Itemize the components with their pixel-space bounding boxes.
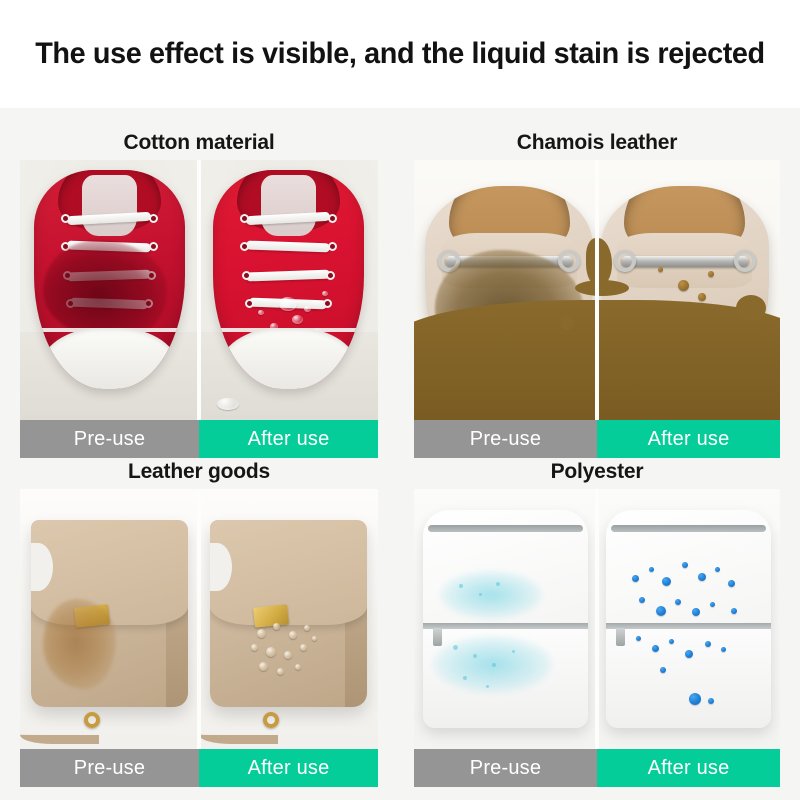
liquid-soak-stain (43, 240, 166, 340)
panel-cotton-material: Cotton material (20, 126, 378, 451)
horsebit-ring (734, 250, 756, 272)
liquid-stain (43, 599, 115, 689)
label-pre-use-cotton: Pre-use (20, 420, 199, 458)
panel-chamois-leather: Chamois leather (414, 126, 780, 451)
water-bead (300, 644, 307, 651)
page-title: The use effect is visible, and the liqui… (35, 37, 765, 71)
ink-bead (682, 562, 688, 568)
zipper-pull (616, 628, 625, 646)
shoe-eyelet (149, 242, 158, 251)
photo-divider (595, 160, 599, 420)
photo-leather-pre-use (20, 489, 199, 749)
mud-bead (698, 293, 706, 301)
ink-bead (698, 573, 706, 581)
label-pre-use-chamois: Pre-use (414, 420, 597, 458)
ink-bead (675, 599, 681, 605)
shoe-tongue (82, 175, 136, 236)
panel-heading-cotton-material: Cotton material (20, 126, 378, 160)
panel-heading-leather-goods: Leather goods (20, 455, 378, 489)
panel-polyester: Polyester (414, 455, 780, 780)
horsebit-hardware (621, 256, 749, 267)
ink-speck (492, 663, 496, 667)
label-bar-polyester: Pre-use After use (414, 749, 780, 787)
ink-speck (453, 645, 458, 650)
water-bead (257, 629, 266, 638)
label-pre-use-leather: Pre-use (20, 749, 199, 787)
leather-bag-stained (31, 520, 189, 707)
ink-bead (705, 641, 711, 647)
ink-bead (710, 602, 715, 607)
photo-cotton-material (20, 160, 378, 420)
rubber-toe-cap (40, 328, 178, 389)
photo-cotton-after-use (199, 160, 378, 420)
water-bead (217, 398, 239, 410)
water-bead (295, 664, 301, 670)
photo-polyester-pre-use (414, 489, 597, 749)
label-after-use-cotton: After use (199, 420, 378, 458)
ink-bead (689, 693, 701, 705)
ink-speck (496, 582, 500, 586)
photo-divider (197, 489, 201, 749)
shoe-lace (246, 269, 330, 281)
ink-speck (473, 654, 477, 658)
label-bar-chamois-leather: Pre-use After use (414, 420, 780, 458)
ink-bead (649, 567, 654, 572)
label-bar-cotton-material: Pre-use After use (20, 420, 378, 458)
panel-leather-goods: Leather goods (20, 455, 378, 780)
shoe-eyelet (240, 242, 249, 251)
backpack-front-pocket (606, 623, 771, 728)
water-bead (279, 297, 297, 311)
shoe-eyelet (326, 271, 335, 280)
label-pre-use-polyester: Pre-use (414, 749, 597, 787)
title-banner: The use effect is visible, and the liqui… (0, 0, 800, 108)
ink-speck (486, 685, 489, 688)
zipper-pull (433, 628, 442, 646)
ink-bead (639, 597, 645, 603)
water-bead (289, 631, 297, 639)
ink-bead (662, 577, 671, 586)
shoe-eyelet (323, 299, 332, 308)
rubber-toe-cap (219, 328, 357, 389)
ink-bead (669, 639, 674, 644)
panel-heading-polyester: Polyester (414, 455, 780, 489)
photo-cotton-pre-use (20, 160, 199, 420)
photo-divider (595, 489, 599, 749)
panel-heading-chamois-leather: Chamois leather (414, 126, 780, 160)
photo-polyester (414, 489, 780, 749)
backpack-top-zipper (611, 525, 766, 532)
backpack-clean (606, 510, 771, 728)
label-after-use-polyester: After use (597, 749, 780, 787)
photo-leather-after-use (199, 489, 378, 749)
bag-gold-plaque (253, 605, 289, 628)
photo-polyester-after-use (597, 489, 780, 749)
label-after-use-chamois: After use (597, 420, 780, 458)
backpack-top-zipper (428, 525, 583, 532)
sneaker-wet (34, 170, 184, 388)
shoe-lace (246, 241, 330, 253)
water-bead (277, 668, 284, 675)
horsebit-ring (614, 250, 636, 272)
ink-bead (715, 567, 720, 572)
comparison-grid: Cotton material (0, 108, 800, 800)
ink-diffusion (440, 571, 542, 619)
shoe-eyelet (328, 214, 337, 223)
mud-splash (586, 238, 612, 286)
water-bead (304, 625, 310, 631)
photo-leather-goods (20, 489, 378, 749)
ink-speck (479, 593, 482, 596)
water-bead (284, 651, 292, 659)
photo-chamois-leather (414, 160, 780, 420)
ink-bead (708, 698, 714, 704)
water-bead (259, 662, 268, 671)
water-bead (258, 310, 264, 315)
water-bead (266, 647, 276, 657)
shoe-eyelet (245, 299, 254, 308)
shoe-eyelet (328, 242, 337, 251)
photo-divider (197, 160, 201, 420)
backpack-pocket-zipper (423, 623, 588, 629)
shoe-eyelet (149, 214, 158, 223)
ink-bead (731, 608, 737, 614)
water-bead (304, 306, 311, 312)
backpack-pocket-zipper (606, 623, 771, 629)
mud-splash (575, 280, 629, 296)
mud-bead (658, 267, 663, 272)
mud-bead (678, 280, 689, 291)
ink-bead (656, 606, 666, 616)
label-bar-leather-goods: Pre-use After use (20, 749, 378, 787)
leather-bag-clean (210, 520, 368, 707)
sneaker-dry (213, 170, 363, 388)
ink-bead (728, 580, 735, 587)
ink-bead (632, 575, 639, 582)
shoe-tongue (261, 175, 315, 236)
label-after-use-leather: After use (199, 749, 378, 787)
water-bead (251, 644, 258, 651)
water-bead (312, 636, 317, 641)
ink-speck (463, 676, 467, 680)
ink-bead (692, 608, 700, 616)
water-bead (273, 623, 280, 630)
ink-bead (685, 650, 693, 658)
ink-speck (512, 650, 515, 653)
water-bead (292, 315, 303, 324)
water-bead (322, 291, 328, 296)
bag-flap (210, 520, 368, 625)
shoe-eyelet (242, 271, 251, 280)
backpack-stained (423, 510, 588, 728)
